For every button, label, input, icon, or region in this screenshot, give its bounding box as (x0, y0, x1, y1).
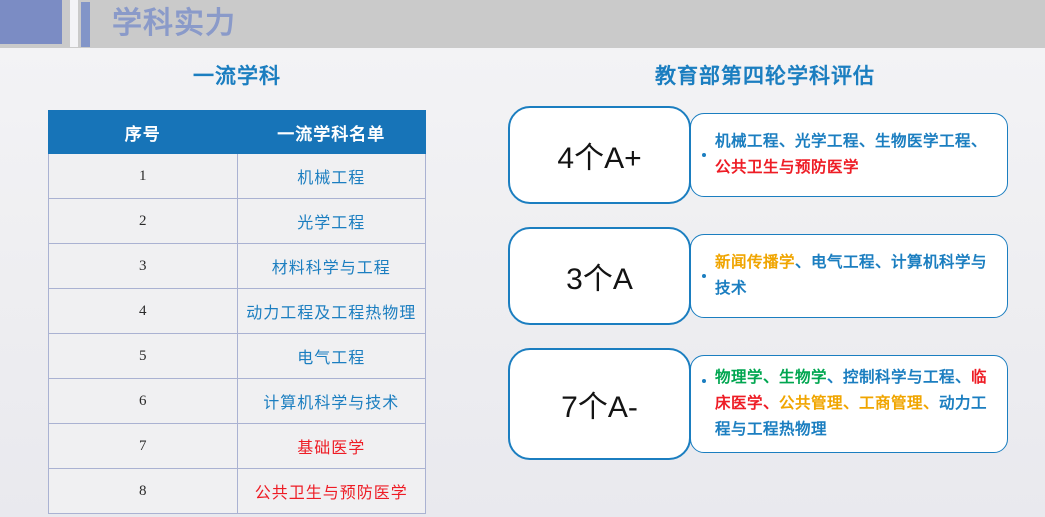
table-row: 6计算机科学与技术 (49, 379, 426, 424)
table-header-row: 序号 一流学科名单 (49, 111, 426, 154)
table-cell-discipline-name: 机械工程 (237, 154, 426, 199)
page-title: 学科实力 (112, 2, 236, 46)
table-row: 8公共卫生与预防医学 (49, 469, 426, 514)
evaluation-panel-inner: 新闻传播学、电气工程、计算机科学与技术 (691, 250, 1007, 302)
discipline-text-segment: 、控制科学与工程、 (827, 369, 971, 386)
evaluation-grade-badge: 3个A (508, 227, 691, 325)
header-divider-bar-light (70, 0, 78, 47)
evaluation-grade-badge: 4个A+ (508, 106, 691, 204)
table-row: 1机械工程 (49, 154, 426, 199)
evaluation-card: 7个A-物理学、生物学、控制科学与工程、临床医学、公共管理、工商管理、动力工程与… (505, 348, 1025, 460)
table-cell-discipline-name: 材料科学与工程 (237, 244, 426, 289)
discipline-text-segment: 物理学、生物学 (715, 369, 827, 386)
evaluation-card: 4个A+机械工程、光学工程、生物医学工程、公共卫生与预防医学 (505, 106, 1025, 204)
table-body: 1机械工程2光学工程3材料科学与工程4动力工程及工程热物理5电气工程6计算机科学… (49, 154, 426, 514)
discipline-text-segment: 公共管理、工商管理、 (779, 395, 939, 412)
first-class-disciplines-section: 一流学科 序号 一流学科名单 1机械工程2光学工程3材料科学与工程4动力工程及工… (48, 60, 426, 514)
table-cell-discipline-name: 动力工程及工程热物理 (237, 289, 426, 334)
table-row: 3材料科学与工程 (49, 244, 426, 289)
bullet-icon (702, 153, 706, 157)
table-cell-index: 4 (49, 289, 238, 334)
table-cell-discipline-name: 光学工程 (237, 199, 426, 244)
right-section-title: 教育部第四轮学科评估 (505, 60, 1025, 90)
discipline-text-segment: 公共卫生与预防医学 (715, 159, 859, 176)
left-section-title: 一流学科 (48, 60, 426, 90)
table-cell-index: 7 (49, 424, 238, 469)
table-cell-index: 8 (49, 469, 238, 514)
moe-evaluation-section: 教育部第四轮学科评估 4个A+机械工程、光学工程、生物医学工程、公共卫生与预防医… (505, 60, 1025, 460)
evaluation-card: 3个A新闻传播学、电气工程、计算机科学与技术 (505, 227, 1025, 325)
evaluation-grade-label: 7个A- (561, 382, 638, 426)
table-cell-discipline-name: 基础医学 (237, 424, 426, 469)
evaluation-discipline-list: 物理学、生物学、控制科学与工程、临床医学、公共管理、工商管理、动力工程与工程热物… (715, 365, 993, 443)
discipline-text-segment: 新闻传播学 (715, 254, 795, 271)
table-row: 5电气工程 (49, 334, 426, 379)
evaluation-discipline-panel: 新闻传播学、电气工程、计算机科学与技术 (690, 234, 1008, 318)
page-header-band: 学科实力 (0, 0, 1045, 48)
header-divider-bar-blue (81, 2, 90, 47)
table-cell-discipline-name: 电气工程 (237, 334, 426, 379)
header-accent-block (0, 0, 62, 44)
first-class-disciplines-table: 序号 一流学科名单 1机械工程2光学工程3材料科学与工程4动力工程及工程热物理5… (48, 110, 426, 514)
table-cell-index: 2 (49, 199, 238, 244)
table-row: 4动力工程及工程热物理 (49, 289, 426, 334)
column-header-index: 序号 (49, 111, 238, 154)
evaluation-panel-inner: 物理学、生物学、控制科学与工程、临床医学、公共管理、工商管理、动力工程与工程热物… (691, 365, 1007, 443)
evaluation-discipline-list: 新闻传播学、电气工程、计算机科学与技术 (715, 250, 993, 302)
evaluation-discipline-panel: 物理学、生物学、控制科学与工程、临床医学、公共管理、工商管理、动力工程与工程热物… (690, 355, 1008, 453)
evaluation-discipline-list: 机械工程、光学工程、生物医学工程、公共卫生与预防医学 (715, 129, 993, 181)
discipline-text-segment: 机械工程、光学工程、生物医学工程、 (715, 133, 987, 150)
table-cell-index: 5 (49, 334, 238, 379)
bullet-icon (702, 274, 706, 278)
table-cell-discipline-name: 公共卫生与预防医学 (237, 469, 426, 514)
table-cell-index: 1 (49, 154, 238, 199)
table-cell-index: 6 (49, 379, 238, 424)
table-cell-discipline-name: 计算机科学与技术 (237, 379, 426, 424)
evaluation-cards-container: 4个A+机械工程、光学工程、生物医学工程、公共卫生与预防医学3个A新闻传播学、电… (505, 106, 1025, 460)
table-cell-index: 3 (49, 244, 238, 289)
evaluation-panel-inner: 机械工程、光学工程、生物医学工程、公共卫生与预防医学 (691, 129, 1007, 181)
evaluation-grade-label: 3个A (566, 254, 633, 298)
evaluation-grade-badge: 7个A- (508, 348, 691, 460)
column-header-name: 一流学科名单 (237, 111, 426, 154)
table-row: 2光学工程 (49, 199, 426, 244)
evaluation-discipline-panel: 机械工程、光学工程、生物医学工程、公共卫生与预防医学 (690, 113, 1008, 197)
bullet-icon (702, 379, 706, 383)
table-row: 7基础医学 (49, 424, 426, 469)
evaluation-grade-label: 4个A+ (557, 133, 641, 177)
